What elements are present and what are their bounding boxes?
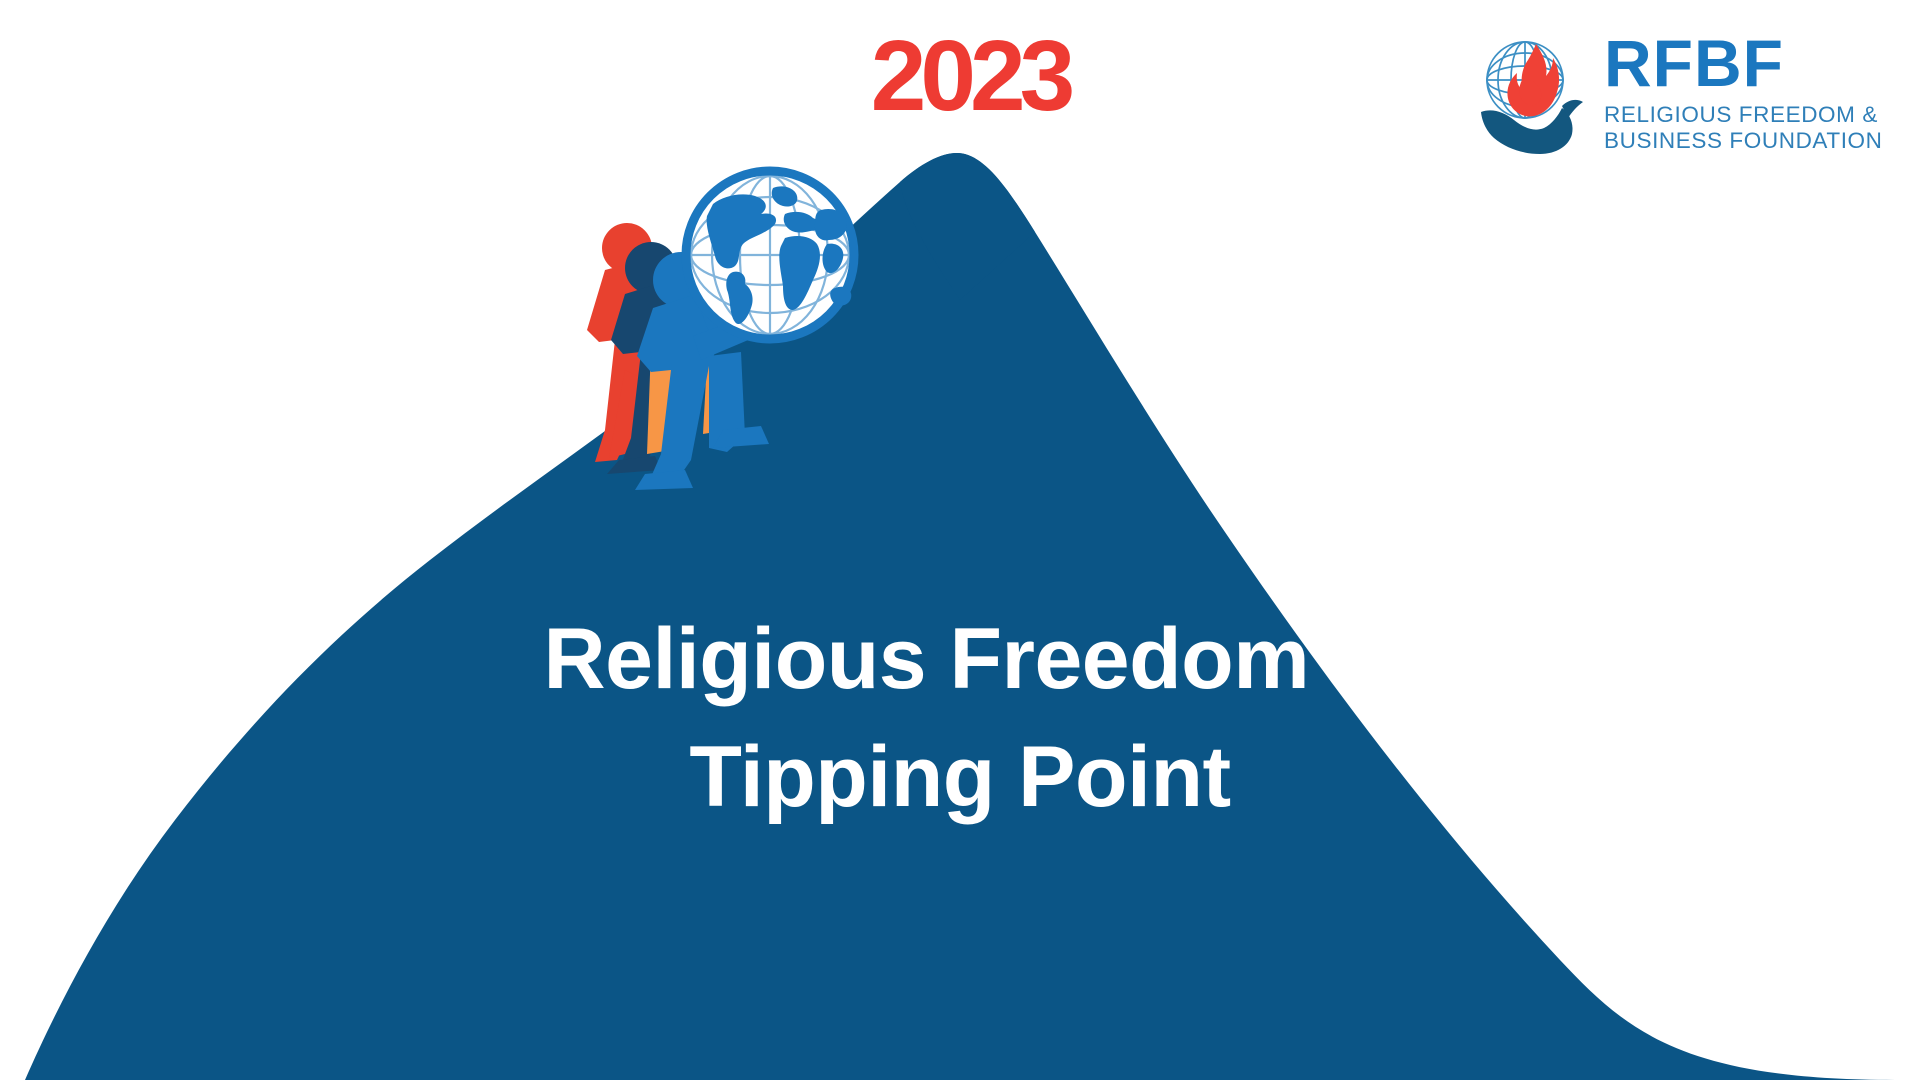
year-2023-badge: 2023 [845,22,1095,132]
globe-flame-hand-icon [1478,28,1596,156]
logo-wordmark: RFBF RELIGIOUS FREEDOM & BUSINESS FOUNDA… [1604,28,1883,154]
logo-tagline: RELIGIOUS FREEDOM & BUSINESS FOUNDATION [1604,102,1883,154]
logo-acronym: RFBF [1604,30,1784,96]
logo-tagline-line-1: RELIGIOUS FREEDOM & [1604,102,1883,128]
slide-canvas: 2023 [0,0,1920,1080]
climbers-illustration [455,130,875,490]
rfbf-logo[interactable]: RFBF RELIGIOUS FREEDOM & BUSINESS FOUNDA… [1478,28,1898,168]
world-globe [684,169,856,341]
year-label: 2023 [871,22,1072,132]
logo-tagline-line-2: BUSINESS FOUNDATION [1604,128,1883,154]
climber-blue-foot-front [635,470,693,490]
